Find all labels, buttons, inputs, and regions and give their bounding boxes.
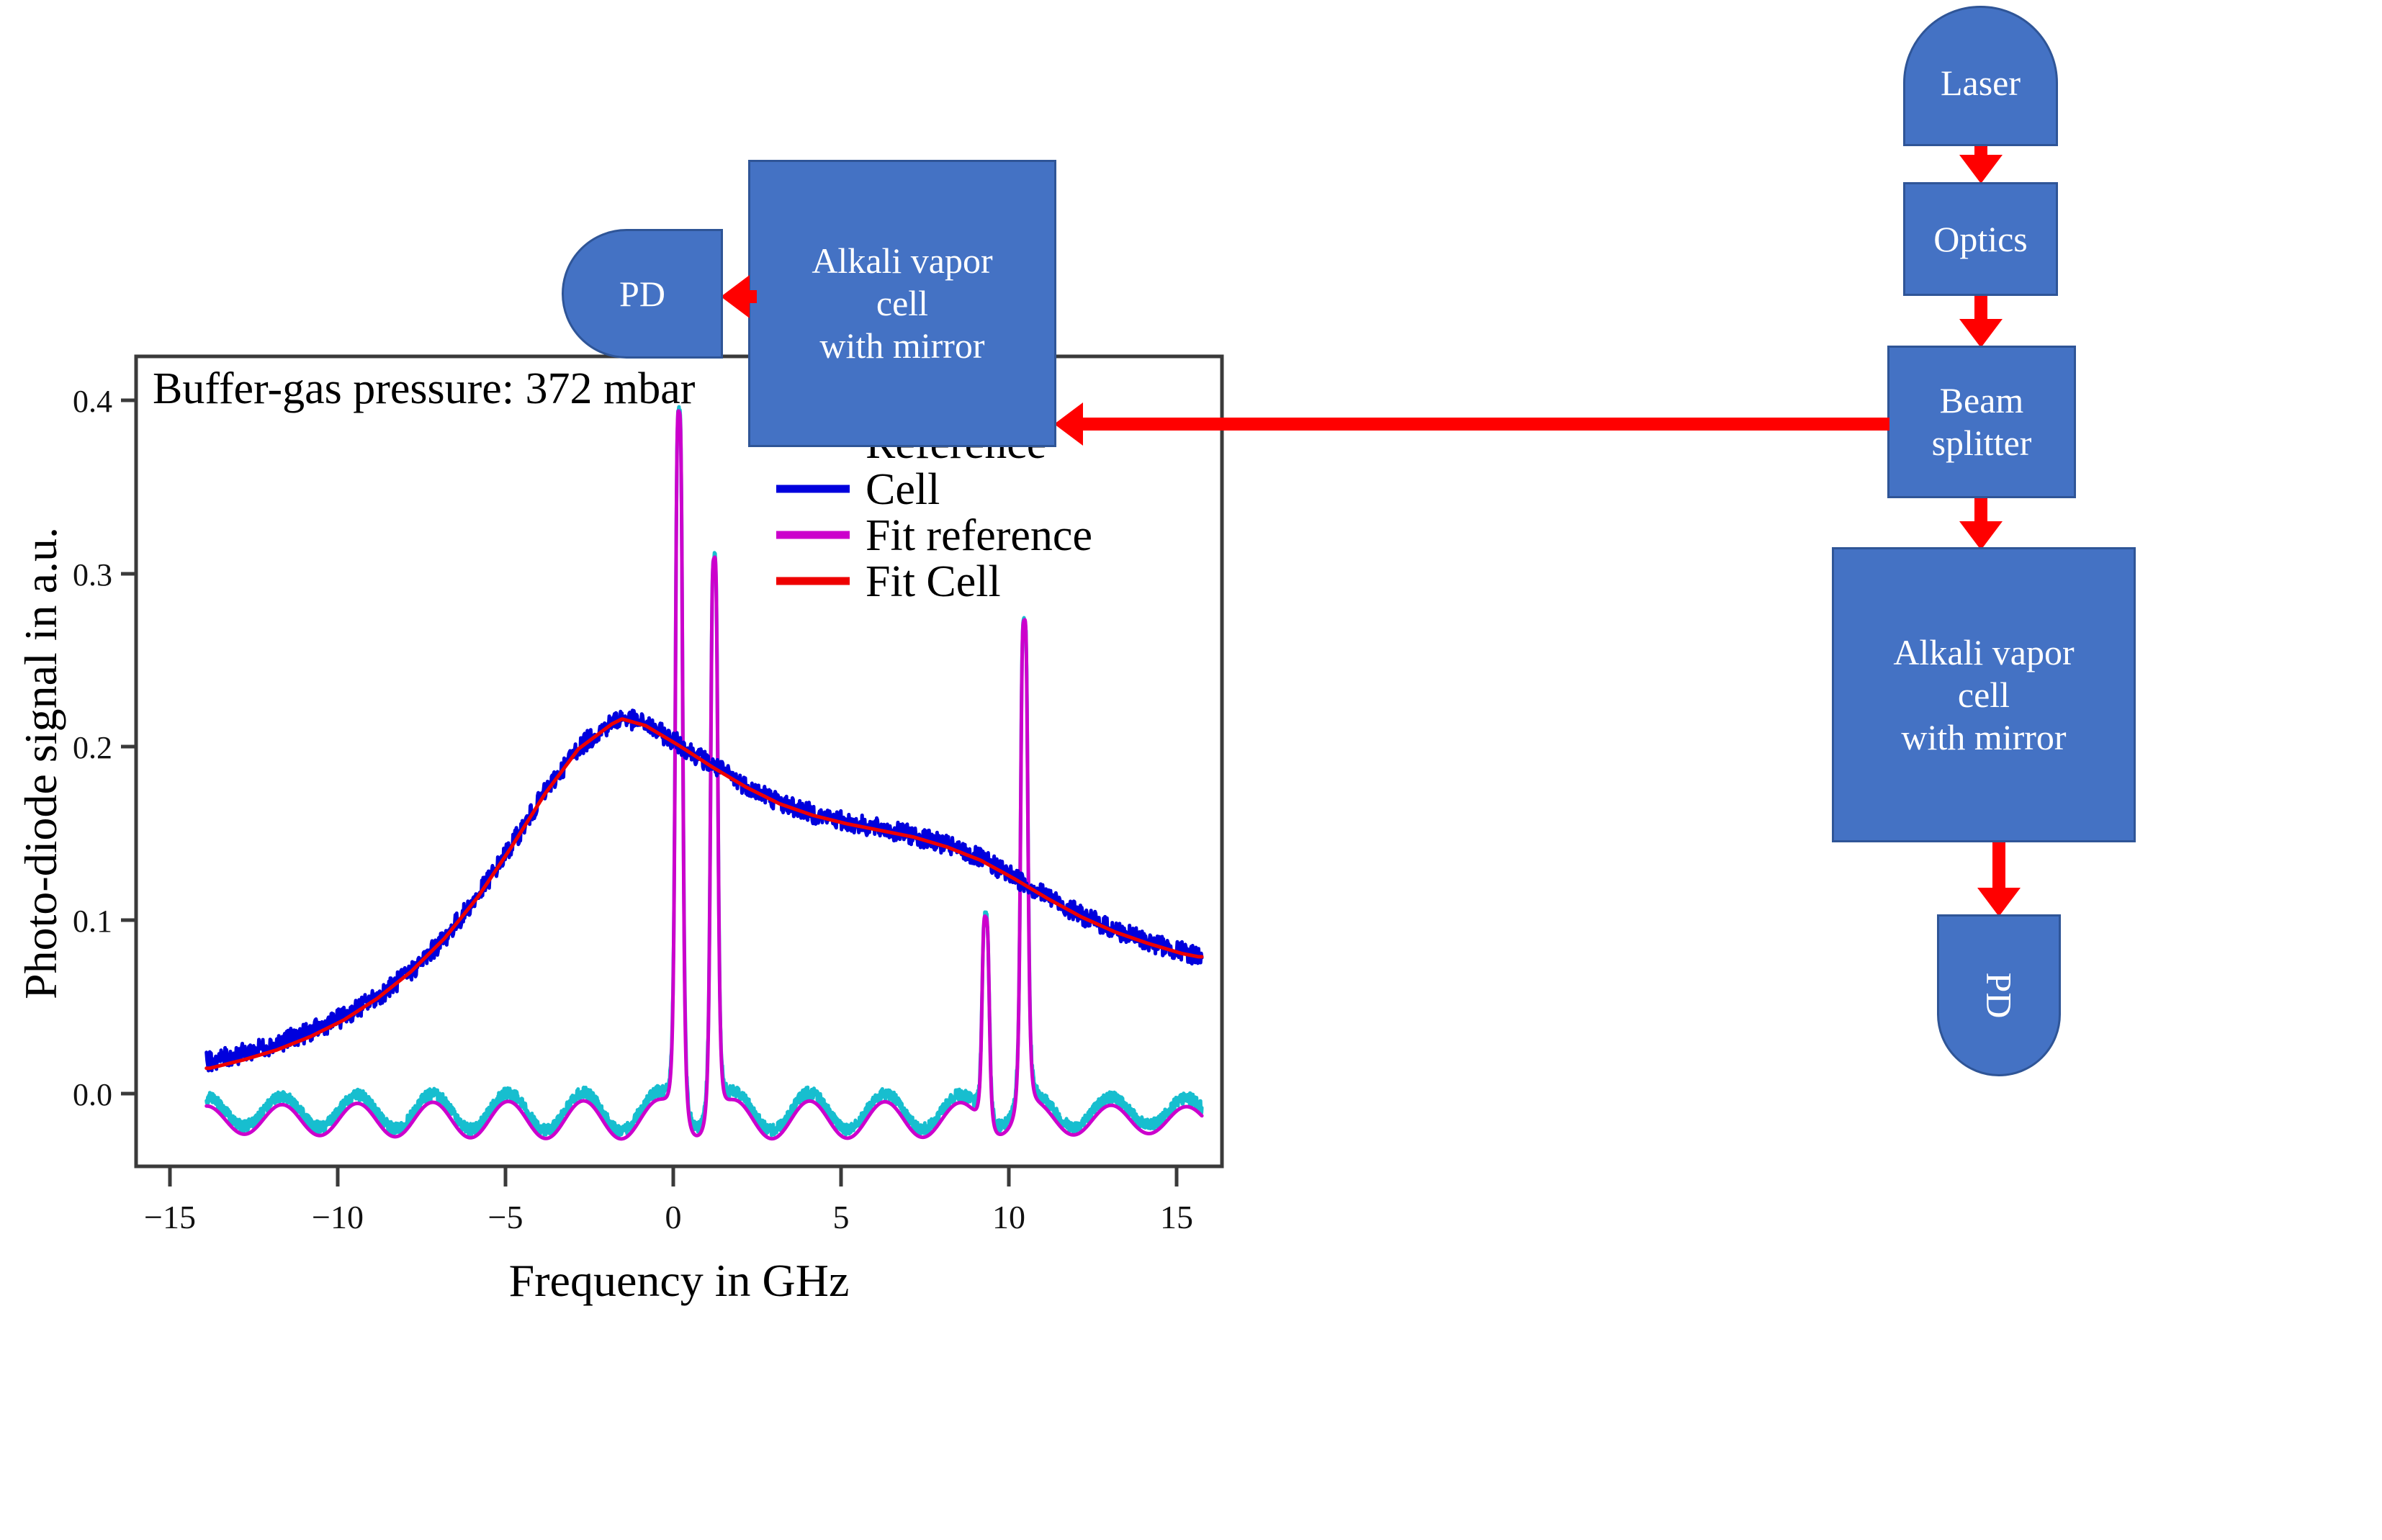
- diagram-node-pd-left[interactable]: PD: [562, 229, 723, 359]
- y-axis-ticks: [121, 400, 136, 1094]
- x-ticklabel-5: 10: [992, 1199, 1025, 1235]
- arrow-beamsplitter-to-cell-mid: [1054, 410, 1889, 438]
- setup-diagram: Laser Optics Beam splitter Alkali vapor …: [1253, 0, 2382, 1540]
- x-ticklabel-4: 5: [833, 1199, 850, 1235]
- x-axis-ticklabels: −15 −10 −5 0 5 10 15: [144, 1199, 1193, 1235]
- x-ticklabel-0: −15: [144, 1199, 196, 1235]
- cell-right-line3: with mirror: [1901, 717, 2066, 757]
- diagram-node-cell-right-label: Alkali vapor cell with mirror: [1834, 631, 2134, 759]
- cell-right-line1: Alkali vapor: [1893, 632, 2074, 672]
- beam-splitter-line2: splitter: [1932, 423, 2032, 463]
- diagram-node-pd-bottom[interactable]: PD: [1937, 914, 2061, 1076]
- legend-label-fit-reference: Fit reference: [866, 511, 1092, 560]
- y-ticklabel-4: 0.0: [73, 1077, 112, 1112]
- x-axis-label: Frequency in GHz: [509, 1255, 850, 1306]
- x-axis-ticks: [170, 1166, 1177, 1186]
- beam-splitter-line1: Beam: [1940, 380, 2024, 420]
- y-ticklabel-1: 0.3: [73, 557, 112, 593]
- y-ticklabel-3: 0.1: [73, 904, 112, 939]
- diagram-node-optics-label: Optics: [1905, 218, 2056, 261]
- x-ticklabel-6: 15: [1160, 1199, 1193, 1235]
- diagram-node-pd-bottom-label: PD: [1978, 936, 2021, 1055]
- diagram-node-laser-label: Laser: [1905, 62, 2056, 104]
- arrow-laser-to-optics: [1968, 146, 1994, 184]
- diagram-node-laser[interactable]: Laser: [1903, 6, 2058, 146]
- legend-label-cell: Cell: [866, 465, 940, 514]
- cell-mid-line1: Alkali vapor: [812, 240, 992, 281]
- x-ticklabel-1: −10: [312, 1199, 364, 1235]
- y-ticklabel-2: 0.2: [73, 730, 112, 765]
- arrow-beamsplitter-to-cell-right: [1968, 498, 1994, 550]
- y-ticklabel-0: 0.4: [73, 384, 112, 419]
- y-axis-ticklabels: 0.4 0.3 0.2 0.1 0.0: [73, 384, 112, 1112]
- y-axis-label: Photo-diode signal in a.u.: [15, 527, 66, 999]
- diagram-node-optics[interactable]: Optics: [1903, 182, 2058, 296]
- arrow-cell-mid-to-pd-left: [721, 283, 757, 310]
- arrow-cell-right-to-pd-bottom: [1986, 842, 2012, 917]
- x-ticklabel-3: 0: [665, 1199, 682, 1235]
- cell-mid-line3: with mirror: [819, 325, 984, 366]
- diagram-node-cell-middle-label: Alkali vapor cell with mirror: [750, 240, 1054, 367]
- diagram-node-pd-left-label: PD: [564, 273, 721, 315]
- arrow-optics-to-beamsplitter: [1968, 296, 1994, 348]
- x-ticklabel-2: −5: [488, 1199, 523, 1235]
- diagram-node-beam-splitter-label: Beam splitter: [1889, 379, 2074, 464]
- diagram-node-cell-middle[interactable]: Alkali vapor cell with mirror: [748, 160, 1056, 447]
- diagram-node-cell-right[interactable]: Alkali vapor cell with mirror: [1832, 547, 2136, 842]
- legend-label-fit-cell: Fit Cell: [866, 557, 1001, 606]
- cell-mid-line2: cell: [876, 283, 928, 323]
- diagram-node-beam-splitter[interactable]: Beam splitter: [1887, 346, 2076, 498]
- plot-annotation: Buffer-gas pressure: 372 mbar: [153, 364, 696, 413]
- cell-right-line2: cell: [1958, 675, 2010, 715]
